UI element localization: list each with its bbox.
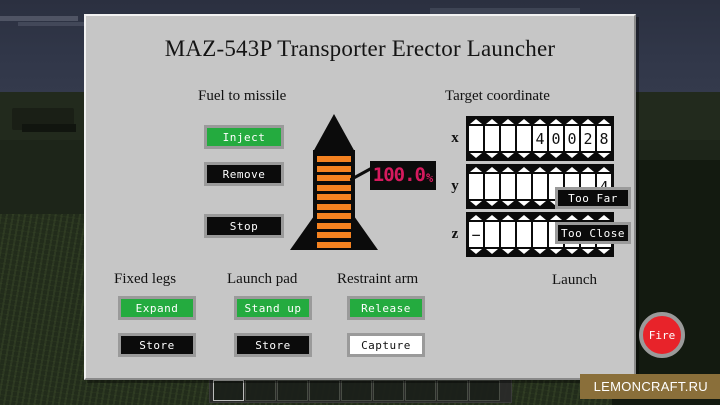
inject-fuel-button[interactable]: Inject (204, 125, 284, 149)
digit-cell[interactable] (517, 174, 531, 199)
chevron-up-icon[interactable] (582, 167, 594, 172)
chevron-down-icon[interactable] (598, 153, 610, 158)
digit-spinner: 8 (597, 119, 611, 158)
axis-label-y: y (444, 178, 466, 195)
chevron-down-icon[interactable] (534, 201, 546, 206)
chevron-up-icon[interactable] (566, 215, 578, 220)
digit-spinner (469, 167, 483, 206)
digit-cell[interactable]: 0 (565, 126, 579, 151)
chevron-down-icon[interactable] (534, 249, 546, 254)
restraint-arm-release-button[interactable]: Release (347, 296, 425, 320)
chevron-down-icon[interactable] (582, 249, 594, 254)
digit-spinner (485, 215, 499, 254)
digit-cell[interactable]: 0 (549, 126, 563, 151)
hotbar-slot[interactable] (277, 380, 308, 401)
site-watermark: LEMONCRAFT.RU (580, 374, 720, 399)
chevron-up-icon[interactable] (486, 215, 498, 220)
fuel-percent-symbol: % (426, 172, 433, 184)
stop-fuel-button[interactable]: Stop (204, 214, 284, 238)
axis-label-z: z (444, 226, 466, 243)
digit-spinner-group-x: 40028 (466, 116, 614, 161)
digit-cell[interactable] (501, 126, 515, 151)
fuel-bar-segment (317, 223, 351, 229)
hotbar-slot[interactable] (341, 380, 372, 401)
digit-cell[interactable] (469, 174, 483, 199)
chevron-up-icon[interactable] (470, 119, 482, 124)
chevron-up-icon[interactable] (470, 167, 482, 172)
digit-cell[interactable] (533, 222, 547, 247)
chevron-down-icon[interactable] (566, 153, 578, 158)
chevron-up-icon[interactable] (534, 119, 546, 124)
chevron-down-icon[interactable] (470, 201, 482, 206)
chevron-down-icon[interactable] (486, 201, 498, 206)
digit-cell[interactable]: 4 (533, 126, 547, 151)
chevron-up-icon[interactable] (502, 215, 514, 220)
too-far-button[interactable]: Too Far (555, 187, 631, 209)
fuel-level-bars (317, 156, 351, 248)
fuel-bar-segment (317, 156, 351, 162)
digit-cell[interactable] (469, 126, 483, 151)
chevron-down-icon[interactable] (518, 153, 530, 158)
fuel-bar-segment (317, 166, 351, 172)
target-section-heading: Target coordinate (445, 88, 550, 105)
chevron-up-icon[interactable] (518, 215, 530, 220)
fixed-legs-store-button[interactable]: Store (118, 333, 196, 357)
fuel-percent-display: 100.0 % (370, 161, 436, 190)
chevron-up-icon[interactable] (582, 215, 594, 220)
chevron-up-icon[interactable] (486, 119, 498, 124)
fuel-bar-segment (317, 185, 351, 191)
chevron-up-icon[interactable] (566, 167, 578, 172)
digit-cell[interactable] (485, 126, 499, 151)
digit-spinner (501, 215, 515, 254)
fire-button-wrapper: Fire (639, 312, 685, 358)
chevron-down-icon[interactable] (470, 249, 482, 254)
remove-fuel-button[interactable]: Remove (204, 162, 284, 186)
digit-cell[interactable] (517, 222, 531, 247)
digit-spinner: 0 (565, 119, 579, 158)
digit-spinner (501, 119, 515, 158)
axis-label-x: x (444, 130, 466, 147)
chevron-down-icon[interactable] (518, 249, 530, 254)
chevron-up-icon[interactable] (518, 119, 530, 124)
chevron-up-icon[interactable] (550, 119, 562, 124)
chevron-down-icon[interactable] (518, 201, 530, 206)
missile-nose-cone (313, 114, 355, 152)
chevron-down-icon[interactable] (502, 249, 514, 254)
hotbar-slot[interactable] (213, 380, 244, 401)
chevron-up-icon[interactable] (566, 119, 578, 124)
hotbar-slot[interactable] (245, 380, 276, 401)
digit-cell[interactable] (485, 222, 499, 247)
page-title: MAZ-543P Transporter Erector Launcher (86, 36, 634, 62)
digit-cell[interactable] (501, 174, 515, 199)
fuel-bar-segment (317, 175, 351, 181)
hotbar-slot[interactable] (437, 380, 468, 401)
chevron-down-icon[interactable] (502, 153, 514, 158)
digit-spinner (501, 167, 515, 206)
missile-fin-right (354, 216, 378, 250)
chevron-up-icon[interactable] (598, 167, 610, 172)
fuel-bar-segment (317, 232, 351, 238)
digit-spinner (517, 215, 531, 254)
cloud (0, 16, 78, 21)
launch-pad-store-button[interactable]: Store (234, 333, 312, 357)
digit-cell[interactable]: − (469, 222, 483, 247)
chevron-up-icon[interactable] (502, 167, 514, 172)
chevron-down-icon[interactable] (550, 153, 562, 158)
digit-spinner (533, 215, 547, 254)
hotbar-slot[interactable] (373, 380, 404, 401)
digit-spinner (533, 167, 547, 206)
hotbar-slot[interactable] (469, 380, 500, 401)
fixed-legs-heading: Fixed legs (114, 271, 176, 288)
digit-cell[interactable]: 8 (597, 126, 611, 151)
fire-button[interactable]: Fire (639, 312, 685, 358)
coordinate-row-x: x40028 (444, 116, 614, 161)
chevron-down-icon[interactable] (598, 249, 610, 254)
chevron-up-icon[interactable] (534, 167, 546, 172)
hotbar[interactable] (209, 378, 512, 403)
chevron-down-icon[interactable] (582, 153, 594, 158)
chevron-down-icon[interactable] (534, 153, 546, 158)
restraint-arm-heading: Restraint arm (337, 271, 418, 288)
digit-spinner (485, 167, 499, 206)
launch-pad-stand-up-button[interactable]: Stand up (234, 296, 312, 320)
digit-spinner (517, 119, 531, 158)
chevron-up-icon[interactable] (582, 119, 594, 124)
hotbar-slot[interactable] (309, 380, 340, 401)
digit-spinner: − (469, 215, 483, 254)
digit-cell[interactable] (485, 174, 499, 199)
fuel-bar-segment (317, 204, 351, 210)
fuel-bar-segment (317, 242, 351, 248)
chevron-down-icon[interactable] (502, 201, 514, 206)
missile-fin-left (290, 216, 314, 250)
hotbar-slot[interactable] (405, 380, 436, 401)
fuel-bar-segment (317, 213, 351, 219)
fuel-percent-value: 100.0 (373, 166, 425, 185)
digit-cell[interactable]: 2 (581, 126, 595, 151)
launch-pad-heading: Launch pad (227, 271, 297, 288)
digit-cell[interactable] (517, 126, 531, 151)
digit-cell[interactable] (533, 174, 547, 199)
chevron-down-icon[interactable] (470, 153, 482, 158)
digit-spinner: 0 (549, 119, 563, 158)
chevron-up-icon[interactable] (534, 215, 546, 220)
fuel-section-heading: Fuel to missile (198, 88, 286, 105)
launcher-control-panel: MAZ-543P Transporter Erector Launcher Fu… (84, 14, 636, 380)
chevron-down-icon[interactable] (486, 153, 498, 158)
chevron-up-icon[interactable] (598, 215, 610, 220)
digit-spinner: 4 (533, 119, 547, 158)
chevron-up-icon[interactable] (518, 167, 530, 172)
fixed-legs-expand-button[interactable]: Expand (118, 296, 196, 320)
launch-heading: Launch (552, 272, 597, 289)
restraint-arm-capture-button[interactable]: Capture (347, 333, 425, 357)
digit-spinner (517, 167, 531, 206)
chevron-up-icon[interactable] (470, 215, 482, 220)
digit-spinner (485, 119, 499, 158)
terrain-block-shadow (22, 124, 76, 132)
chevron-down-icon[interactable] (550, 249, 562, 254)
digit-spinner (469, 119, 483, 158)
chevron-up-icon[interactable] (550, 167, 562, 172)
fuel-bar-segment (317, 194, 351, 200)
too-close-button[interactable]: Too Close (555, 222, 631, 244)
digit-spinner: 2 (581, 119, 595, 158)
chevron-up-icon[interactable] (486, 167, 498, 172)
chevron-up-icon[interactable] (598, 119, 610, 124)
digit-cell[interactable] (501, 222, 515, 247)
chevron-up-icon[interactable] (502, 119, 514, 124)
chevron-down-icon[interactable] (566, 249, 578, 254)
chevron-up-icon[interactable] (550, 215, 562, 220)
chevron-down-icon[interactable] (486, 249, 498, 254)
